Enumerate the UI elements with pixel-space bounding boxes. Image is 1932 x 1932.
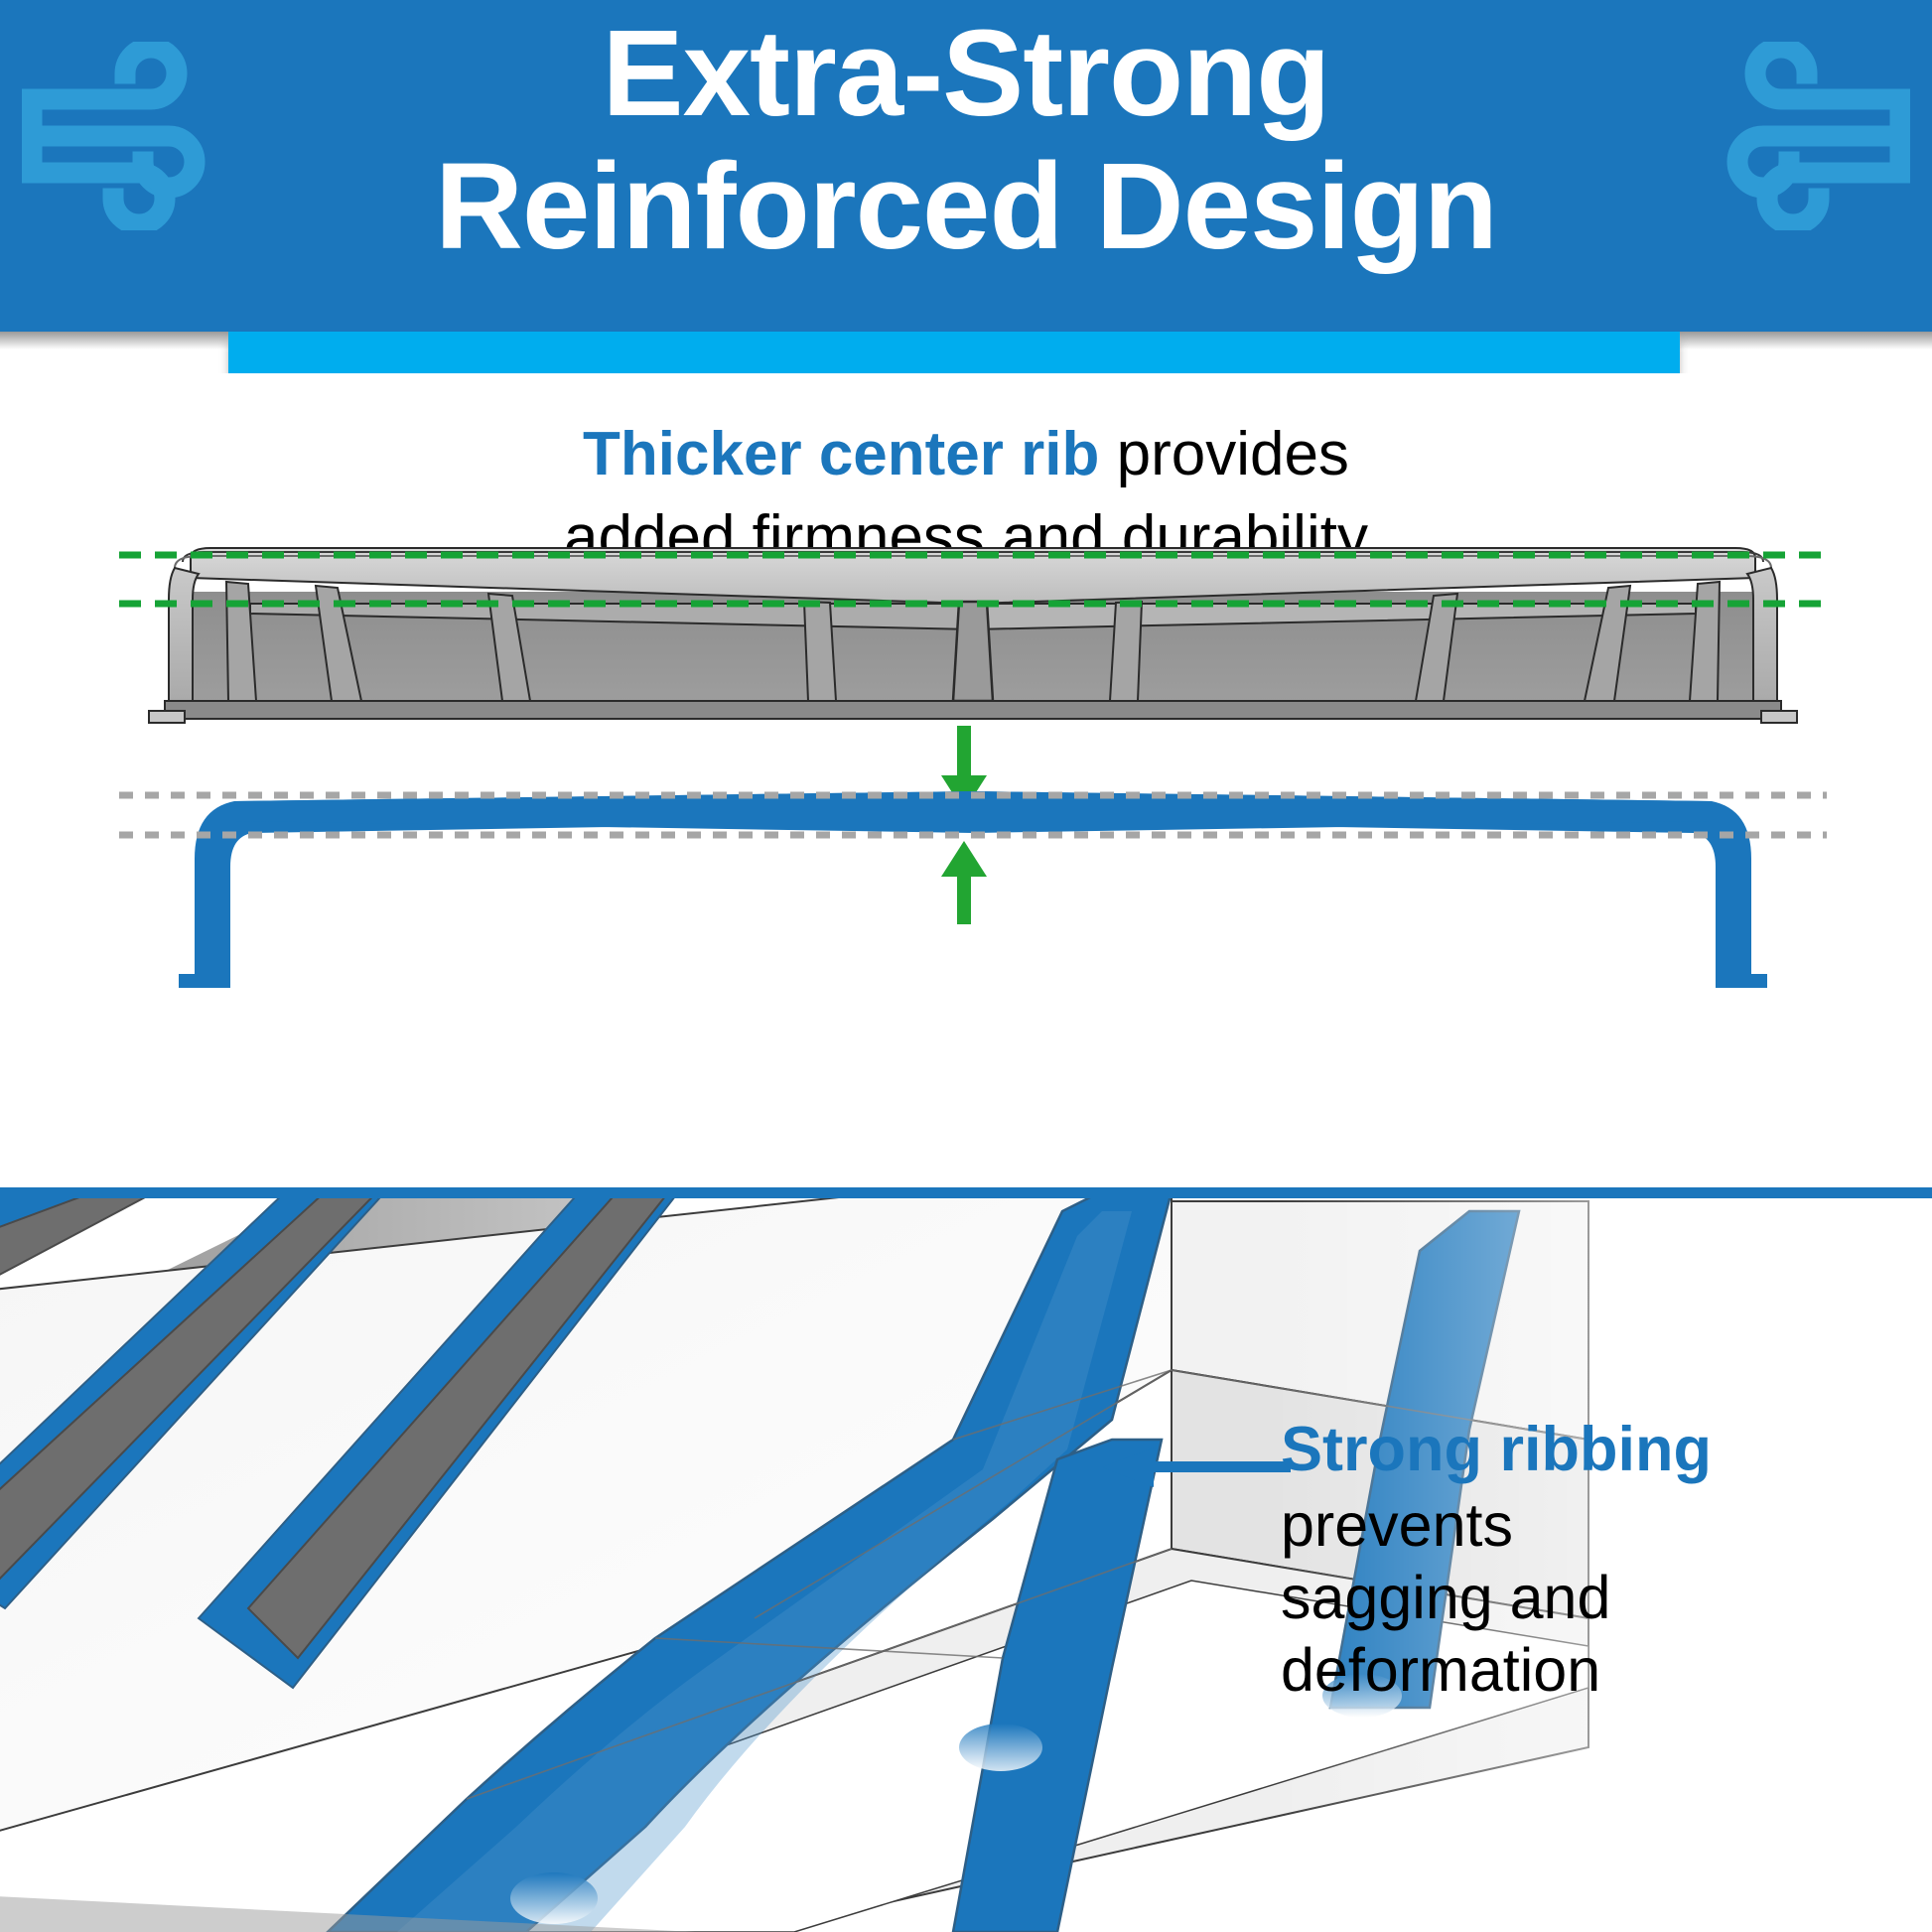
subtitle-highlight: Thicker center rib [583,420,1099,488]
ribbed-tray-cross-section [119,542,1827,746]
subtitle-rest: provides [1099,420,1349,488]
header-title-line1: Extra-Strong [603,6,1330,142]
callout-body-line1: prevents [1281,1489,1916,1562]
section-divider [0,1187,1932,1198]
callout-body: prevents sagging and deformation [1281,1489,1916,1707]
thin-wall-profile [119,775,1827,999]
header-title: Extra-Strong Reinforced Design [0,8,1932,274]
pointer-arrow-left-icon [1102,1448,1291,1487]
callout-title: Strong ribbing [1281,1414,1916,1485]
subtitle-line1: Thicker center rib provides [0,413,1932,496]
header-title-line2: Reinforced Design [0,141,1932,274]
middle-section: Thicker center rib provides added firmne… [0,373,1932,1191]
header-banner: Extra-Strong Reinforced Design [0,0,1932,332]
callout-strong-ribbing: Strong ribbing prevents sagging and defo… [1281,1414,1916,1707]
callout-body-line2: sagging and [1281,1562,1916,1634]
callout-body-line3: deformation [1281,1634,1916,1707]
header-accent-bar [228,332,1680,373]
